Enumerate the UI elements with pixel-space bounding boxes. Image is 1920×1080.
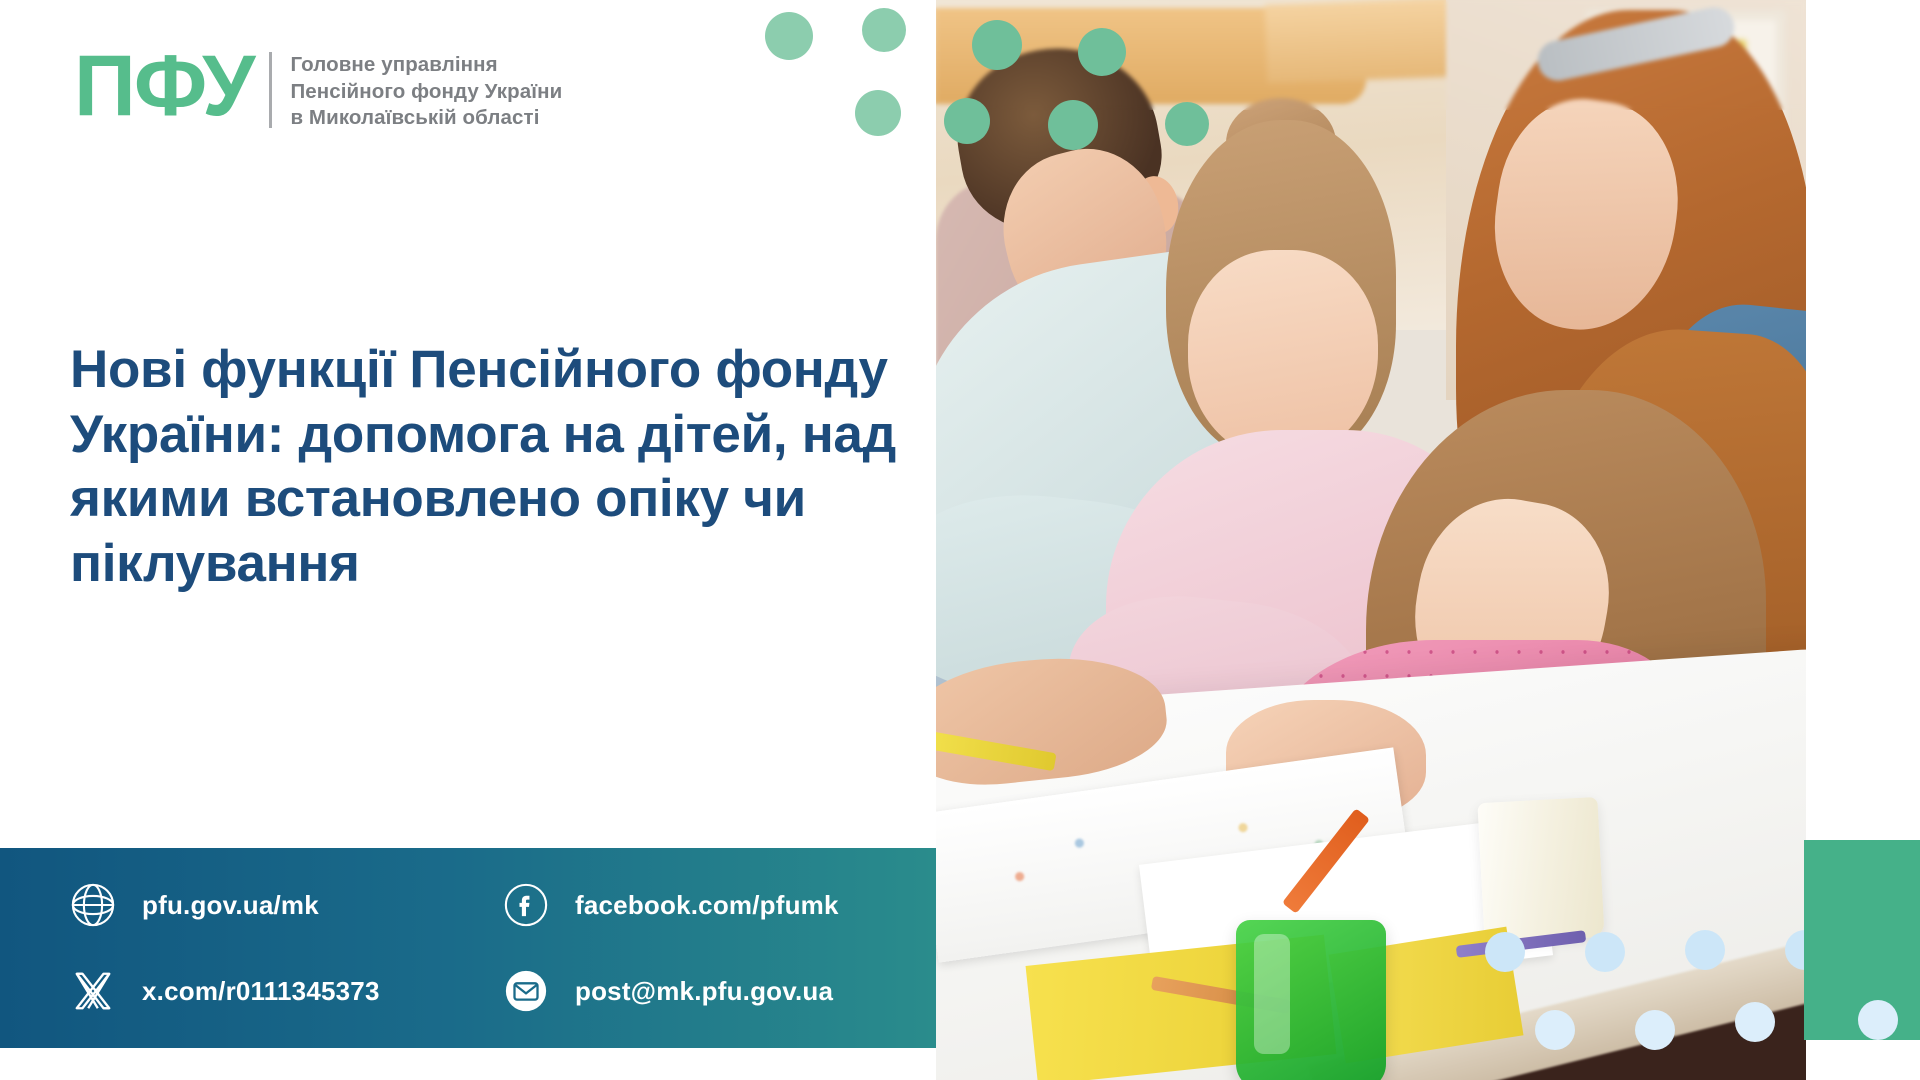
decorative-dot-blue [1535, 1010, 1575, 1050]
pfu-logo: ПФУ Головне управління Пенсійного фонду … [74, 46, 562, 132]
contact-website[interactable]: pfu.gov.ua/mk [70, 882, 503, 928]
decorative-dot-green [765, 12, 813, 60]
decorative-dot-blue [1585, 932, 1625, 972]
family-photo [936, 0, 1806, 1080]
decorative-dot-blue [1858, 1000, 1898, 1040]
page-title: Нові функції Пенсійного фонду України: д… [70, 338, 900, 597]
decorative-dot-green [1165, 102, 1209, 146]
decorative-dot-green [1078, 28, 1126, 76]
decorative-dot-blue [1485, 932, 1525, 972]
contact-email[interactable]: post@mk.pfu.gov.ua [503, 968, 936, 1014]
decorative-dot-blue [1735, 1002, 1775, 1042]
decorative-dot-green [944, 98, 990, 144]
contact-x-twitter-label: x.com/r0111345373 [142, 976, 380, 1007]
organization-name: Головне управління Пенсійного фонду Укра… [290, 46, 562, 132]
contact-facebook[interactable]: facebook.com/pfumk [503, 882, 936, 928]
email-icon [503, 968, 549, 1014]
contact-website-label: pfu.gov.ua/mk [142, 890, 319, 921]
decorative-dot-green [855, 90, 901, 136]
contact-footer: pfu.gov.ua/mk facebook.com/pfumk [0, 848, 936, 1048]
decorative-dot-green [972, 20, 1022, 70]
facebook-icon [503, 882, 549, 928]
poster-canvas: ПФУ Головне управління Пенсійного фонду … [0, 0, 1920, 1080]
globe-icon [70, 882, 116, 928]
decorative-dot-blue [1685, 930, 1725, 970]
contact-facebook-label: facebook.com/pfumk [575, 890, 839, 921]
logo-wordmark: ПФУ [74, 46, 253, 128]
contact-email-label: post@mk.pfu.gov.ua [575, 976, 833, 1007]
org-line-3: в Миколаївській області [290, 105, 562, 132]
org-line-2: Пенсійного фонду України [290, 79, 562, 106]
decorative-dot-green [1048, 100, 1098, 150]
decorative-dot-blue [1635, 1010, 1675, 1050]
org-line-1: Головне управління [290, 52, 562, 79]
decorative-dot-green [862, 8, 906, 52]
x-twitter-icon [70, 968, 116, 1014]
contact-x-twitter[interactable]: x.com/r0111345373 [70, 968, 503, 1014]
logo-divider [269, 52, 272, 128]
